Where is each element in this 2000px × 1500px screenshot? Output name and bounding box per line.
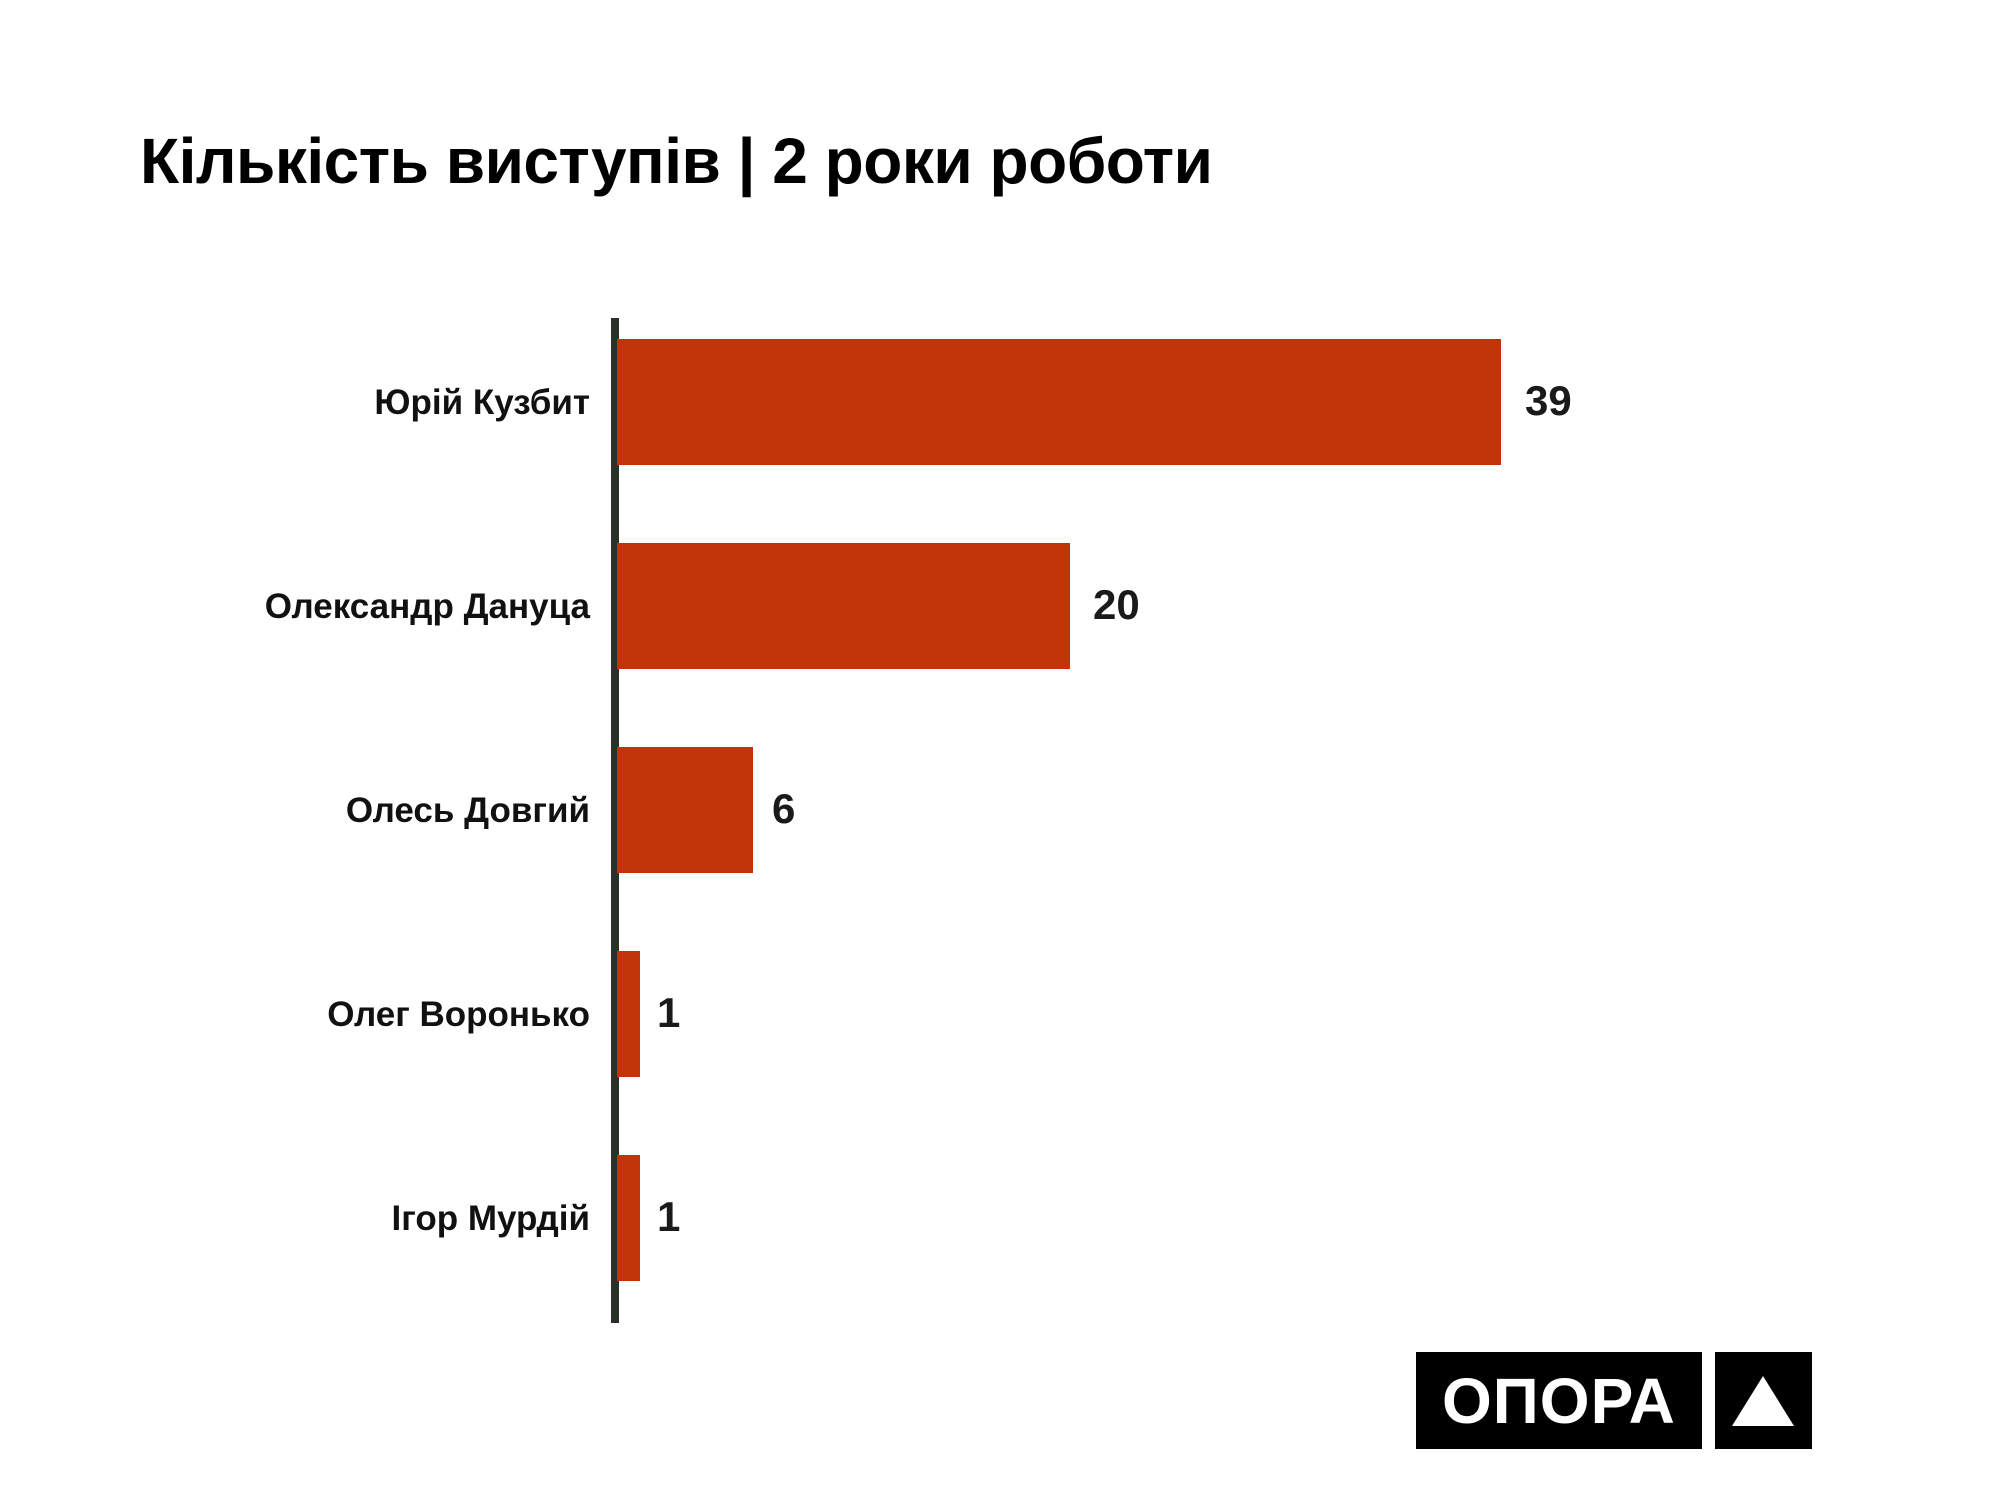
- category-label: Юрій Кузбит: [30, 385, 590, 420]
- bar-value-label: 1: [657, 1196, 680, 1238]
- bar-row: Олег Воронько 1: [0, 922, 2000, 1126]
- bar-row: Олександр Дануца 20: [0, 514, 2000, 718]
- logo-wordmark: ОПОРА: [1416, 1352, 1702, 1449]
- bar[interactable]: [617, 543, 1070, 669]
- triangle-icon: [1732, 1376, 1794, 1426]
- bar-row: Юрій Кузбит 39: [0, 310, 2000, 514]
- category-label: Олександр Дануца: [30, 589, 590, 624]
- bar-row: Олесь Довгий 6: [0, 718, 2000, 922]
- bar[interactable]: [617, 951, 640, 1077]
- opora-logo: ОПОРА: [1416, 1352, 1812, 1449]
- category-label: Ігор Мурдій: [30, 1201, 590, 1236]
- logo-badge: [1715, 1352, 1812, 1449]
- plot-area: Юрій Кузбит 39 Олександр Дануца 20 Олесь…: [0, 310, 2000, 1330]
- bar-value-label: 1: [657, 992, 680, 1034]
- bar-value-label: 20: [1093, 584, 1140, 626]
- category-label: Олесь Довгий: [30, 793, 590, 828]
- chart-page: Кількість виступів | 2 роки роботи Юрій …: [0, 0, 2000, 1500]
- bar[interactable]: [617, 1155, 640, 1281]
- bar-row: Ігор Мурдій 1: [0, 1126, 2000, 1330]
- bar-value-label: 39: [1525, 380, 1572, 422]
- page-title: Кількість виступів | 2 роки роботи: [140, 128, 1212, 195]
- bar-value-label: 6: [772, 788, 795, 830]
- bar[interactable]: [617, 339, 1501, 465]
- category-label: Олег Воронько: [30, 997, 590, 1032]
- bar[interactable]: [617, 747, 753, 873]
